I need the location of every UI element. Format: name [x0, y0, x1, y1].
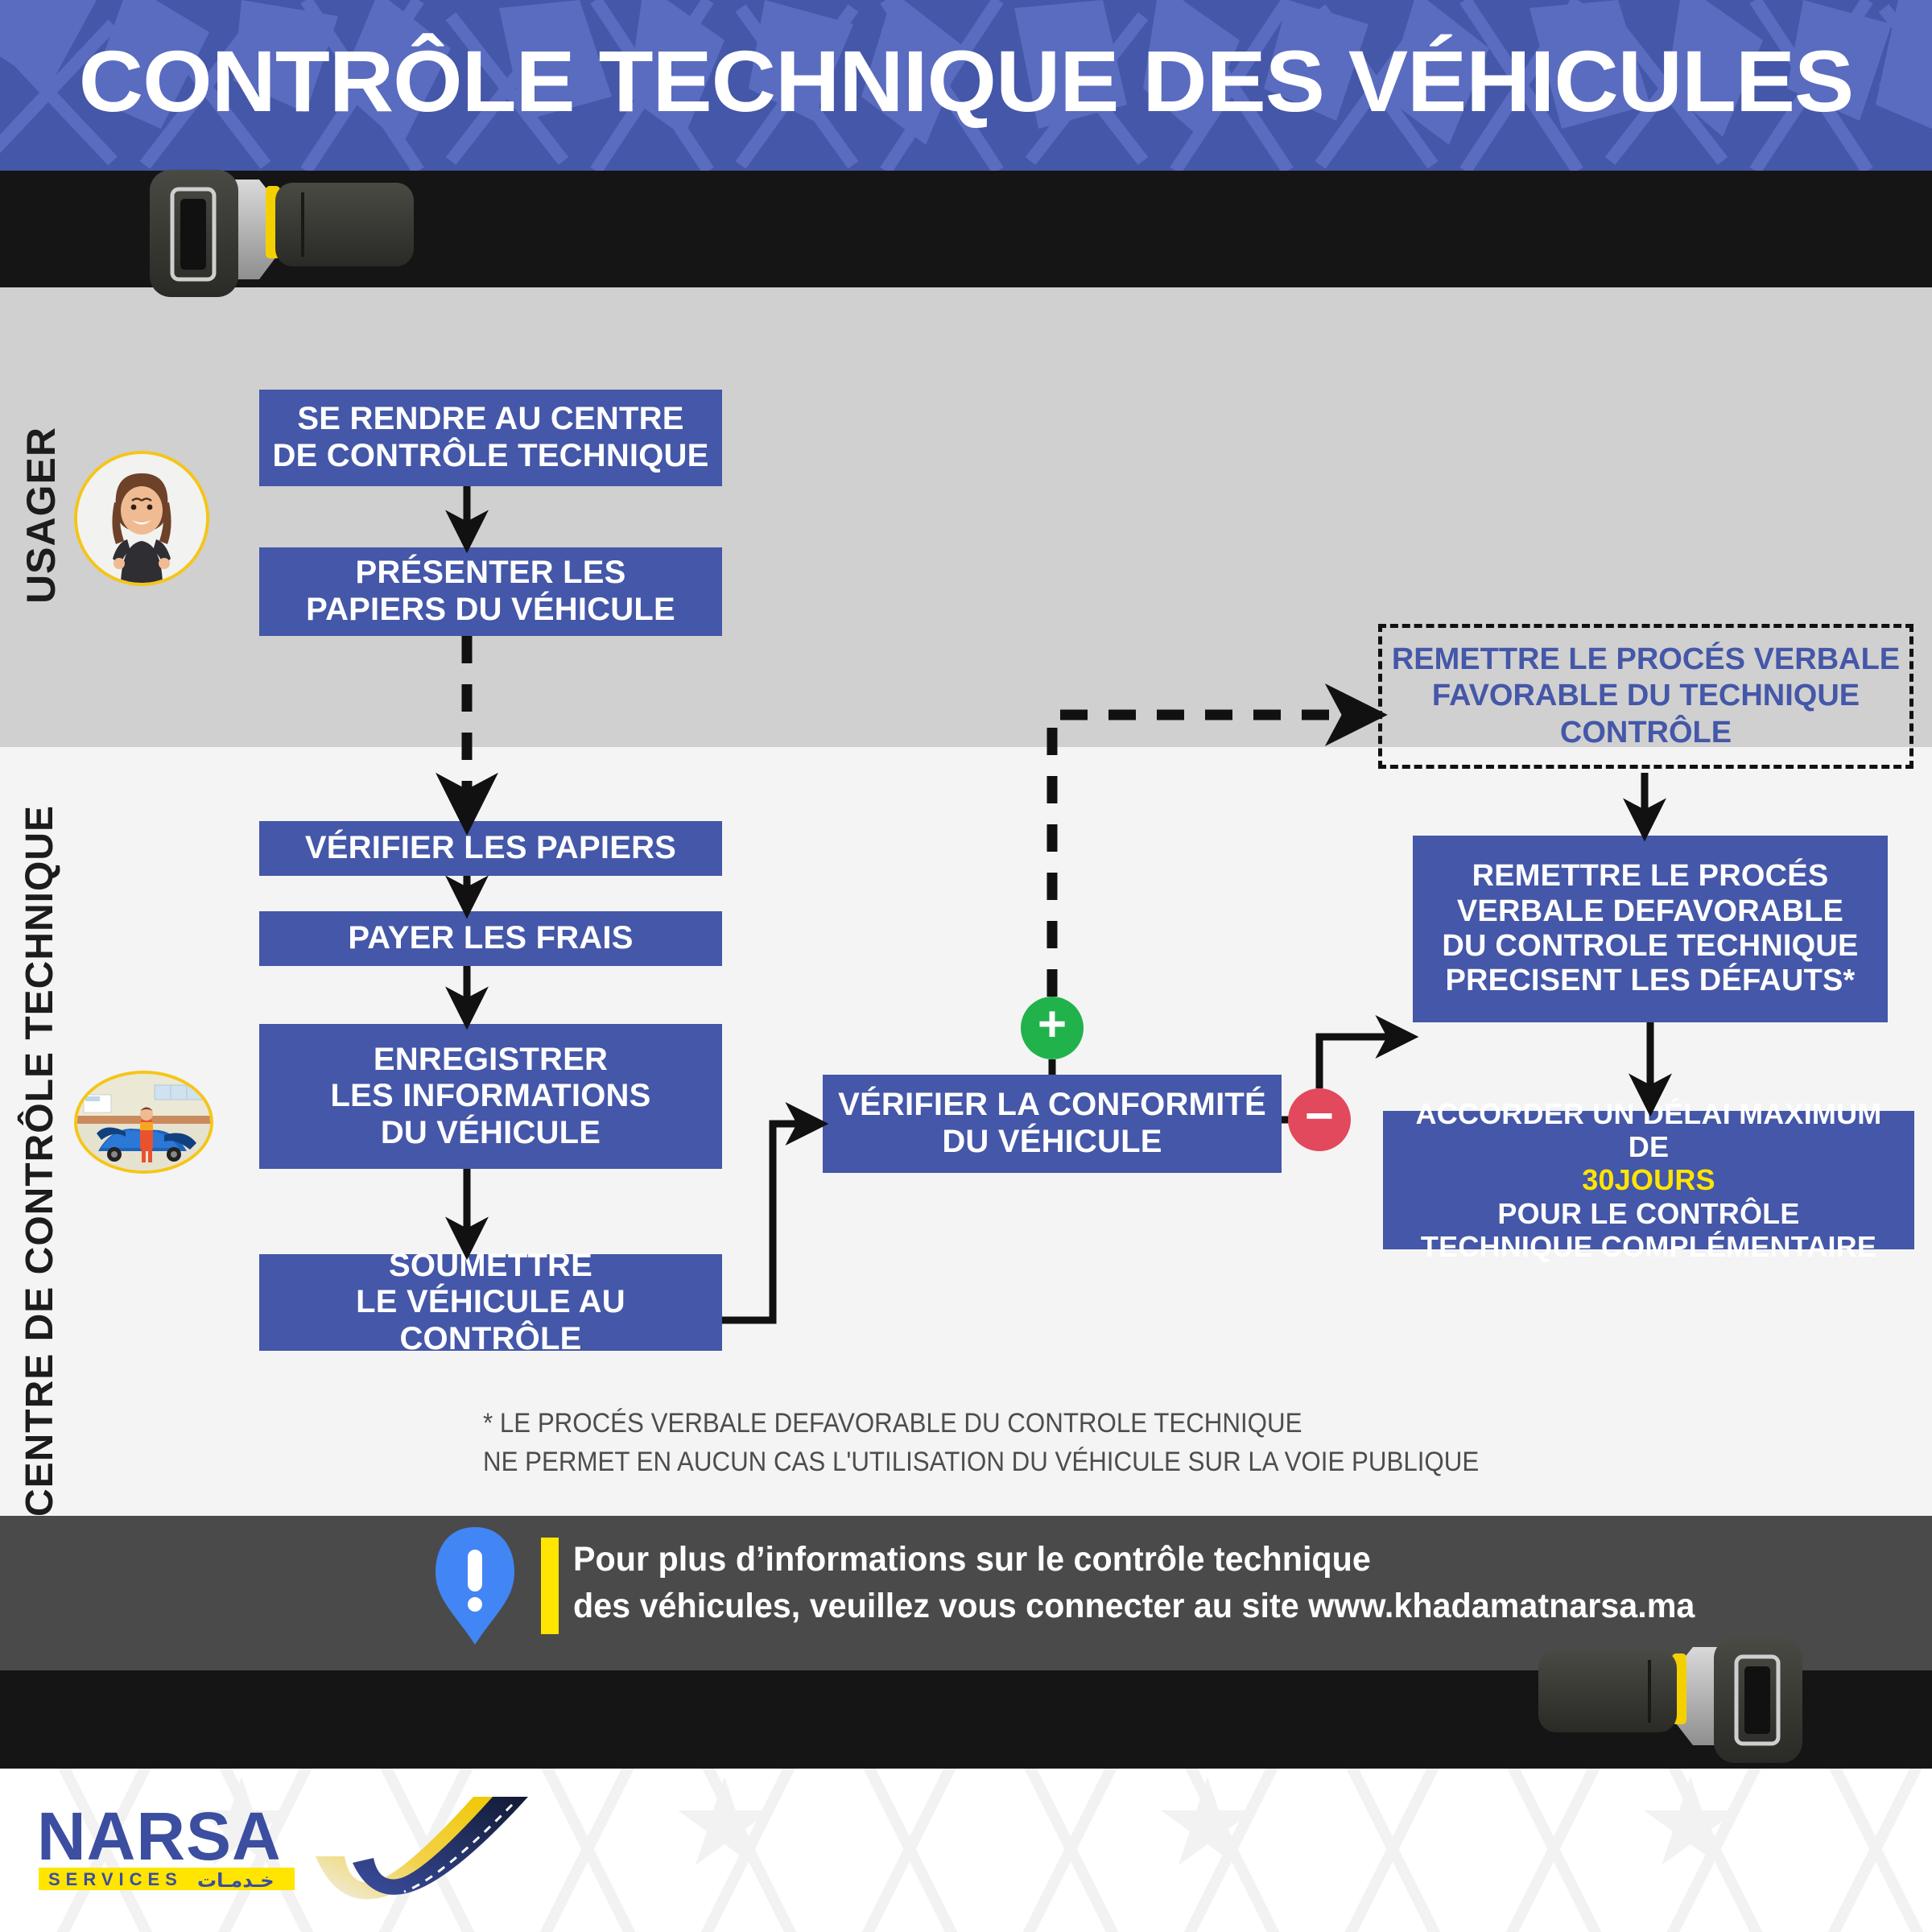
- exclamation-pin-icon: [431, 1525, 519, 1646]
- woman-avatar-icon: [74, 451, 209, 586]
- step-line: VÉRIFIER LES PAPIERS: [305, 830, 676, 867]
- step-line: PRÉSENTER LES: [306, 555, 675, 592]
- step-line: REMETTRE LE PROCÉS: [1392, 642, 1745, 676]
- step-line: ENREGISTRER: [330, 1042, 650, 1079]
- step-line: VERBALE DEFAVORABLE: [1442, 894, 1858, 929]
- step-box-soumettre[interactable]: SOUMETTRE LE VÉHICULE AU CONTRÔLE: [259, 1254, 722, 1351]
- step-box-presenter[interactable]: PRÉSENTER LES PAPIERS DU VÉHICULE: [259, 547, 722, 636]
- step-line: SOUMETTRE: [267, 1248, 714, 1285]
- step-box-se-rendre[interactable]: SE RENDRE AU CENTRE DE CONTRÔLE TECHNIQU…: [259, 390, 722, 486]
- step-line: TECHNIQUE COMPLÉMENTAIRE: [1416, 1230, 1882, 1263]
- lane-label-usager: USAGER: [18, 427, 64, 604]
- info-line-2: des véhicules, veuillez vous connecter a…: [573, 1583, 1840, 1629]
- lane-label-centre: CENTRE DE CONTRÔLE TECHNIQUE: [18, 805, 62, 1517]
- footnote-line-1: * LE PROCÉS VERBALE DEFAVORABLE DU CONTR…: [483, 1404, 1594, 1443]
- mechanic-garage-icon: [74, 1071, 213, 1174]
- step-box-verifier-papiers[interactable]: VÉRIFIER LES PAPIERS: [259, 821, 722, 876]
- step-line: DE CONTRÔLE TECHNIQUE: [273, 438, 709, 475]
- step-box-enregistrer[interactable]: ENREGISTRER LES INFORMATIONS DU VÉHICULE: [259, 1024, 722, 1169]
- info-banner-text: Pour plus d’informations sur le contrôle…: [573, 1536, 1840, 1630]
- delai-prefix: DE: [1416, 1130, 1882, 1163]
- info-accent-bar: [541, 1538, 559, 1634]
- step-line: ACCORDER UN DÉLAI MAXIMUM: [1416, 1097, 1882, 1130]
- delai-suffix: POUR LE CONTRÔLE: [1416, 1197, 1882, 1230]
- step-line: REMETTRE LE PROCÉS: [1442, 859, 1858, 894]
- infographic-root: CONTRÔLE TECHNIQUE DES VÉHICULES USAGER …: [0, 0, 1932, 1932]
- step-box-pv-favorable[interactable]: REMETTRE LE PROCÉS VERBALE FAVORABLE DU …: [1378, 624, 1913, 769]
- info-line-1: Pour plus d’informations sur le contrôle…: [573, 1536, 1840, 1583]
- badge-conforme-plus-icon[interactable]: +: [1021, 997, 1084, 1059]
- step-line: DU VÉHICULE: [838, 1124, 1266, 1161]
- step-box-payer-frais[interactable]: PAYER LES FRAIS: [259, 911, 722, 966]
- narsa-logo[interactable]: NARSA SERVICES خـدمـات: [32, 1797, 531, 1918]
- step-box-pv-defavorable[interactable]: REMETTRE LE PROCÉS VERBALE DEFAVORABLE D…: [1413, 836, 1888, 1022]
- step-line: PAPIERS DU VÉHICULE: [306, 592, 675, 629]
- step-line: DU CONTROLE TECHNIQUE: [1442, 929, 1858, 964]
- step-line: PRECISENT LES DÉFAUTS*: [1442, 964, 1858, 998]
- step-line: DU VÉHICULE: [330, 1115, 650, 1152]
- step-box-accorder-delai[interactable]: ACCORDER UN DÉLAI MAXIMUM DE 30JOURS POU…: [1383, 1111, 1914, 1249]
- delai-highlight: 30JOURS: [1416, 1163, 1882, 1196]
- footnote-line-2: NE PERMET EN AUCUN CAS L'UTILISATION DU …: [483, 1443, 1594, 1481]
- step-box-verifier-conformite[interactable]: VÉRIFIER LA CONFORMITÉ DU VÉHICULE: [823, 1075, 1282, 1173]
- logo-wordmark: NARSA: [37, 1798, 282, 1874]
- logo-subtitle-latin: SERVICES: [48, 1869, 183, 1889]
- page-title: CONTRÔLE TECHNIQUE DES VÉHICULES: [0, 31, 1932, 131]
- seatbelt-buckle-icon: [145, 165, 459, 302]
- step-line: VÉRIFIER LA CONFORMITÉ: [838, 1087, 1266, 1124]
- step-line: PAYER LES FRAIS: [348, 920, 633, 957]
- step-line: LES INFORMATIONS: [330, 1078, 650, 1115]
- step-line-delai: DE 30JOURS POUR LE CONTRÔLE: [1416, 1130, 1882, 1229]
- logo-subtitle-arabic: خـدمـات: [197, 1869, 275, 1892]
- seatbelt-buckle-bottom-icon: [1493, 1634, 1807, 1767]
- badge-non-conforme-minus-icon[interactable]: −: [1288, 1088, 1351, 1151]
- step-line: SE RENDRE AU CENTRE: [273, 401, 709, 438]
- step-line: LE VÉHICULE AU CONTRÔLE: [267, 1284, 714, 1357]
- footnote: * LE PROCÉS VERBALE DEFAVORABLE DU CONTR…: [483, 1404, 1594, 1482]
